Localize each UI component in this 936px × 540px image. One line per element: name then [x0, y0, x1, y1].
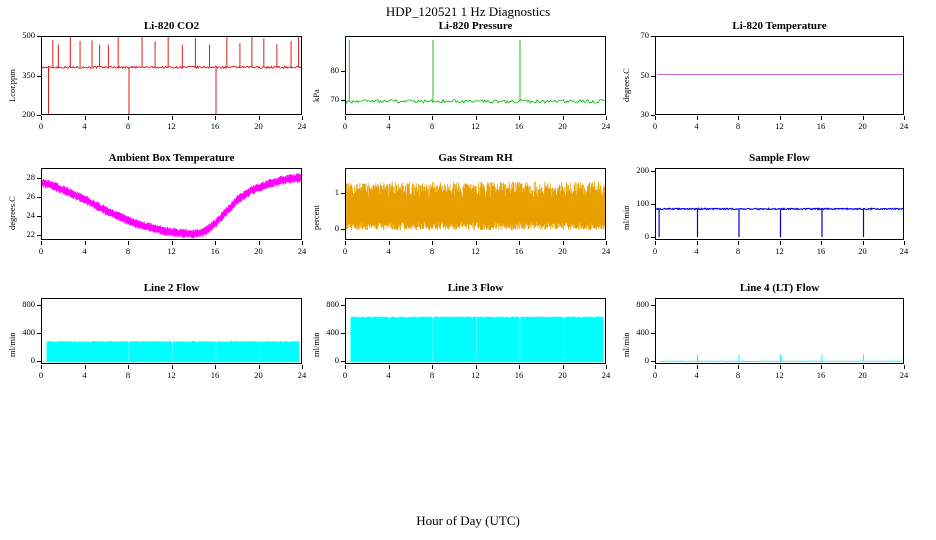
- x-tick-mark: [519, 116, 520, 120]
- panel-title-line-4-lt-flow: Line 4 (LT) Flow: [615, 282, 936, 294]
- x-tick-label: 4: [379, 370, 399, 380]
- plot-area-sample-flow: [655, 168, 904, 240]
- y-tick-label: 200: [1, 109, 35, 119]
- y-tick-label: 70: [305, 94, 339, 104]
- x-tick-mark: [41, 116, 42, 120]
- x-tick-mark: [215, 241, 216, 245]
- plot-area-li-820-pressure: [345, 36, 606, 115]
- x-tick-mark: [432, 365, 433, 369]
- x-tick-label: 20: [249, 246, 269, 256]
- x-tick-label: 16: [509, 370, 529, 380]
- series-li-820-pressure: [346, 37, 606, 115]
- y-tick-label: 100: [615, 198, 649, 208]
- y-axis-label-sample-flow: ml/min: [621, 205, 631, 230]
- plot-area-ambient-box-temperature: [41, 168, 302, 240]
- x-tick-mark: [863, 365, 864, 369]
- x-tick-mark: [41, 241, 42, 245]
- x-tick-label: 12: [162, 246, 182, 256]
- x-tick-mark: [85, 116, 86, 120]
- x-tick-label: 4: [75, 246, 95, 256]
- x-tick-label: 24: [894, 246, 914, 256]
- x-tick-mark: [259, 116, 260, 120]
- x-tick-mark: [563, 241, 564, 245]
- plot-area-line-4-lt-flow: [655, 298, 904, 364]
- x-tick-label: 0: [335, 121, 355, 131]
- x-tick-mark: [697, 365, 698, 369]
- x-tick-mark: [215, 116, 216, 120]
- page-title: HDP_120521 1 Hz Diagnostics: [0, 4, 936, 20]
- x-tick-mark: [345, 116, 346, 120]
- panel-title-ambient-box-temperature: Ambient Box Temperature: [1, 152, 342, 164]
- x-tick-label: 16: [205, 370, 225, 380]
- x-tick-label: 12: [770, 246, 790, 256]
- y-tick-label: 800: [1, 299, 35, 309]
- x-tick-label: 20: [853, 121, 873, 131]
- y-tick-label: 500: [1, 30, 35, 40]
- x-tick-mark: [302, 241, 303, 245]
- x-tick-label: 8: [118, 246, 138, 256]
- x-tick-label: 20: [853, 370, 873, 380]
- x-tick-mark: [821, 365, 822, 369]
- x-tick-label: 16: [811, 246, 831, 256]
- x-tick-mark: [389, 116, 390, 120]
- y-tick-label: 0: [615, 355, 649, 365]
- x-tick-label: 20: [249, 370, 269, 380]
- x-tick-label: 0: [335, 246, 355, 256]
- x-tick-label: 16: [509, 246, 529, 256]
- x-tick-label: 4: [379, 121, 399, 131]
- panel-title-gas-stream-rh: Gas Stream RH: [305, 152, 646, 164]
- x-tick-mark: [172, 116, 173, 120]
- x-tick-mark: [697, 116, 698, 120]
- x-tick-mark: [128, 241, 129, 245]
- x-tick-label: 8: [728, 246, 748, 256]
- x-tick-label: 24: [292, 370, 312, 380]
- x-tick-mark: [738, 116, 739, 120]
- x-tick-label: 8: [422, 121, 442, 131]
- x-tick-label: 20: [249, 121, 269, 131]
- panel-title-sample-flow: Sample Flow: [615, 152, 936, 164]
- x-tick-mark: [85, 365, 86, 369]
- x-tick-label: 16: [205, 246, 225, 256]
- x-tick-label: 12: [466, 370, 486, 380]
- x-tick-label: 16: [509, 121, 529, 131]
- global-x-axis-label: Hour of Day (UTC): [0, 513, 936, 529]
- x-tick-label: 12: [162, 370, 182, 380]
- x-tick-label: 16: [811, 370, 831, 380]
- y-tick-label: 28: [1, 172, 35, 182]
- x-tick-mark: [606, 365, 607, 369]
- x-tick-mark: [780, 241, 781, 245]
- plot-area-li-820-temperature: [655, 36, 904, 115]
- x-tick-mark: [697, 241, 698, 245]
- x-tick-label: 24: [596, 246, 616, 256]
- x-tick-label: 8: [118, 370, 138, 380]
- x-tick-mark: [780, 365, 781, 369]
- x-tick-mark: [863, 116, 864, 120]
- x-tick-mark: [821, 116, 822, 120]
- x-tick-label: 8: [728, 121, 748, 131]
- x-tick-mark: [519, 241, 520, 245]
- x-tick-mark: [655, 365, 656, 369]
- x-tick-label: 20: [853, 246, 873, 256]
- x-tick-mark: [519, 365, 520, 369]
- plot-area-gas-stream-rh: [345, 168, 606, 240]
- x-tick-mark: [655, 241, 656, 245]
- x-tick-mark: [172, 365, 173, 369]
- x-tick-label: 4: [379, 246, 399, 256]
- y-tick-label: 0: [305, 223, 339, 233]
- x-tick-mark: [904, 365, 905, 369]
- y-tick-label: 400: [305, 327, 339, 337]
- x-tick-label: 20: [553, 246, 573, 256]
- panel-title-line-3-flow: Line 3 Flow: [305, 282, 646, 294]
- x-tick-label: 16: [811, 121, 831, 131]
- x-tick-mark: [476, 116, 477, 120]
- y-tick-label: 30: [615, 109, 649, 119]
- series-line-3-flow: [346, 299, 606, 364]
- series-gas-stream-rh: [346, 169, 606, 240]
- x-tick-label: 8: [118, 121, 138, 131]
- x-tick-mark: [128, 365, 129, 369]
- x-tick-label: 16: [205, 121, 225, 131]
- x-tick-mark: [128, 116, 129, 120]
- x-tick-label: 0: [645, 370, 665, 380]
- y-tick-label: 800: [305, 299, 339, 309]
- x-tick-label: 8: [422, 246, 442, 256]
- x-tick-label: 12: [466, 246, 486, 256]
- y-tick-label: 1: [305, 187, 339, 197]
- y-tick-label: 0: [615, 231, 649, 241]
- x-tick-mark: [738, 365, 739, 369]
- x-tick-mark: [302, 116, 303, 120]
- x-tick-label: 8: [728, 370, 748, 380]
- y-tick-label: 26: [1, 191, 35, 201]
- y-tick-label: 24: [1, 210, 35, 220]
- y-tick-label: 0: [1, 355, 35, 365]
- x-tick-label: 0: [31, 370, 51, 380]
- panel-title-line-2-flow: Line 2 Flow: [1, 282, 342, 294]
- x-tick-label: 4: [687, 121, 707, 131]
- x-tick-mark: [606, 116, 607, 120]
- x-tick-mark: [389, 241, 390, 245]
- x-tick-mark: [563, 365, 564, 369]
- x-tick-mark: [85, 241, 86, 245]
- x-tick-label: 24: [894, 370, 914, 380]
- series-li-820-co2: [42, 37, 302, 115]
- x-tick-mark: [215, 365, 216, 369]
- x-tick-mark: [259, 365, 260, 369]
- x-tick-mark: [904, 241, 905, 245]
- x-tick-label: 12: [770, 370, 790, 380]
- panel-title-li-820-pressure: Li-820 Pressure: [305, 20, 646, 32]
- x-tick-label: 4: [687, 370, 707, 380]
- x-tick-mark: [863, 241, 864, 245]
- x-tick-mark: [476, 241, 477, 245]
- x-tick-mark: [780, 116, 781, 120]
- x-tick-label: 20: [553, 121, 573, 131]
- y-tick-label: 22: [1, 229, 35, 239]
- y-tick-label: 200: [615, 165, 649, 175]
- series-line-4-lt-flow: [656, 299, 904, 364]
- x-tick-label: 24: [596, 121, 616, 131]
- x-tick-mark: [345, 365, 346, 369]
- panel-title-li-820-temperature: Li-820 Temperature: [615, 20, 936, 32]
- x-tick-mark: [345, 241, 346, 245]
- y-tick-label: 400: [615, 327, 649, 337]
- x-tick-mark: [302, 365, 303, 369]
- x-tick-mark: [41, 365, 42, 369]
- x-tick-label: 0: [31, 121, 51, 131]
- x-tick-mark: [606, 241, 607, 245]
- plot-area-line-3-flow: [345, 298, 606, 364]
- x-tick-mark: [563, 116, 564, 120]
- x-tick-mark: [172, 241, 173, 245]
- x-tick-mark: [476, 365, 477, 369]
- series-li-820-temperature: [656, 37, 904, 115]
- series-sample-flow: [656, 169, 904, 240]
- x-tick-label: 8: [422, 370, 442, 380]
- y-tick-label: 80: [305, 65, 339, 75]
- x-tick-label: 24: [292, 121, 312, 131]
- x-tick-label: 12: [770, 121, 790, 131]
- x-tick-label: 12: [466, 121, 486, 131]
- series-line-2-flow: [42, 299, 302, 364]
- x-tick-mark: [904, 116, 905, 120]
- x-tick-label: 0: [335, 370, 355, 380]
- x-tick-mark: [738, 241, 739, 245]
- y-tick-label: 350: [1, 70, 35, 80]
- plot-area-li-820-co2: [41, 36, 302, 115]
- y-tick-label: 800: [615, 299, 649, 309]
- x-tick-label: 12: [162, 121, 182, 131]
- x-tick-label: 0: [645, 246, 665, 256]
- y-tick-label: 50: [615, 70, 649, 80]
- x-tick-label: 0: [645, 121, 665, 131]
- x-tick-label: 4: [75, 370, 95, 380]
- x-tick-label: 0: [31, 246, 51, 256]
- y-tick-label: 400: [1, 327, 35, 337]
- x-tick-mark: [389, 365, 390, 369]
- x-tick-mark: [432, 116, 433, 120]
- x-tick-mark: [821, 241, 822, 245]
- x-tick-label: 24: [596, 370, 616, 380]
- x-tick-label: 24: [292, 246, 312, 256]
- plot-area-line-2-flow: [41, 298, 302, 364]
- x-tick-mark: [432, 241, 433, 245]
- y-tick-label: 0: [305, 355, 339, 365]
- x-tick-mark: [655, 116, 656, 120]
- x-tick-label: 4: [75, 121, 95, 131]
- x-tick-label: 20: [553, 370, 573, 380]
- series-ambient-box-temperature: [42, 169, 302, 240]
- x-tick-label: 4: [687, 246, 707, 256]
- x-tick-mark: [259, 241, 260, 245]
- y-tick-label: 70: [615, 30, 649, 40]
- x-tick-label: 24: [894, 121, 914, 131]
- panel-title-li-820-co2: Li-820 CO2: [1, 20, 342, 32]
